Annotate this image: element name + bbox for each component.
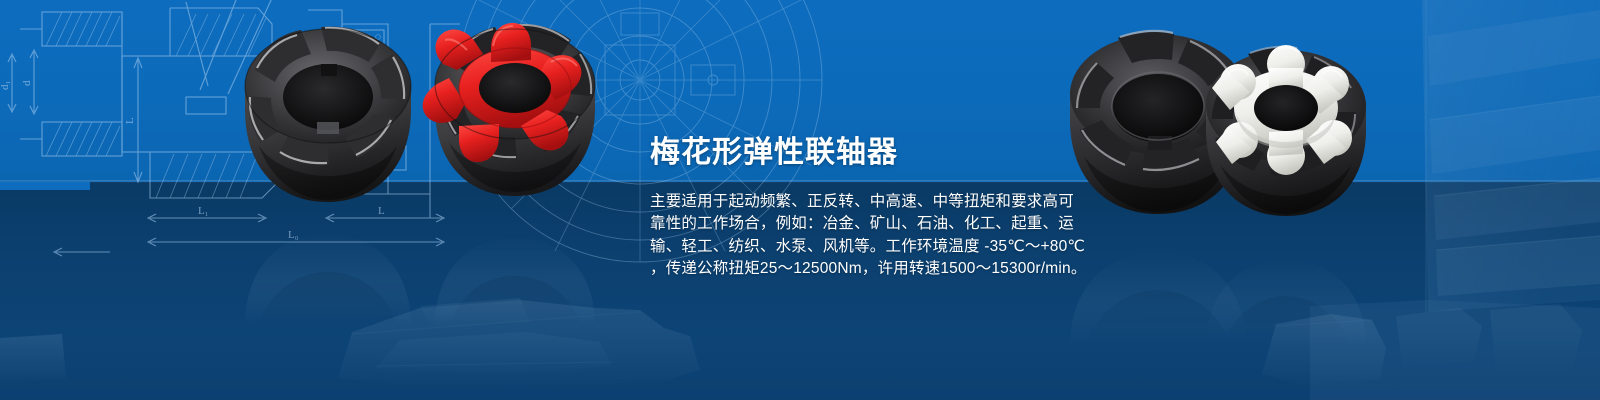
svg-text:L: L [124, 117, 136, 124]
description-line-4: ，传递公称扭矩25～12500Nm，许用转速1500～15300r/min。 [650, 258, 1120, 281]
product-description: 主要适用于起动频繁、正反转、中高速、中等扭矩和要求高可 靠性的工作场合，例如：冶… [650, 191, 1120, 281]
svg-text:d₁: d₁ [0, 81, 11, 91]
svg-text:L₁: L₁ [198, 205, 209, 217]
description-line-1: 主要适用于起动频繁、正反转、中高速、中等扭矩和要求高可 [650, 191, 1120, 214]
description-line-2: 靠性的工作场合，例如：冶金、矿山、石油、化工、起重、运 [650, 213, 1120, 236]
svg-text:d: d [21, 80, 33, 86]
svg-text:L₀: L₀ [288, 229, 299, 241]
svg-text:D₁: D₁ [359, 94, 371, 106]
svg-text:L: L [378, 205, 385, 217]
page-title: 梅花形弹性联轴器 [650, 136, 1120, 170]
product-banner: L₁ L L₀ D₁ d d₁ L [0, 0, 1600, 400]
description-line-3: 输、轻工、纺织、水泵、风机等。工作环境温度 -35℃～+80℃ [650, 236, 1120, 259]
banner-copy: 梅花形弹性联轴器 主要适用于起动频繁、正反转、中高速、中等扭矩和要求高可 靠性的… [650, 136, 1120, 281]
